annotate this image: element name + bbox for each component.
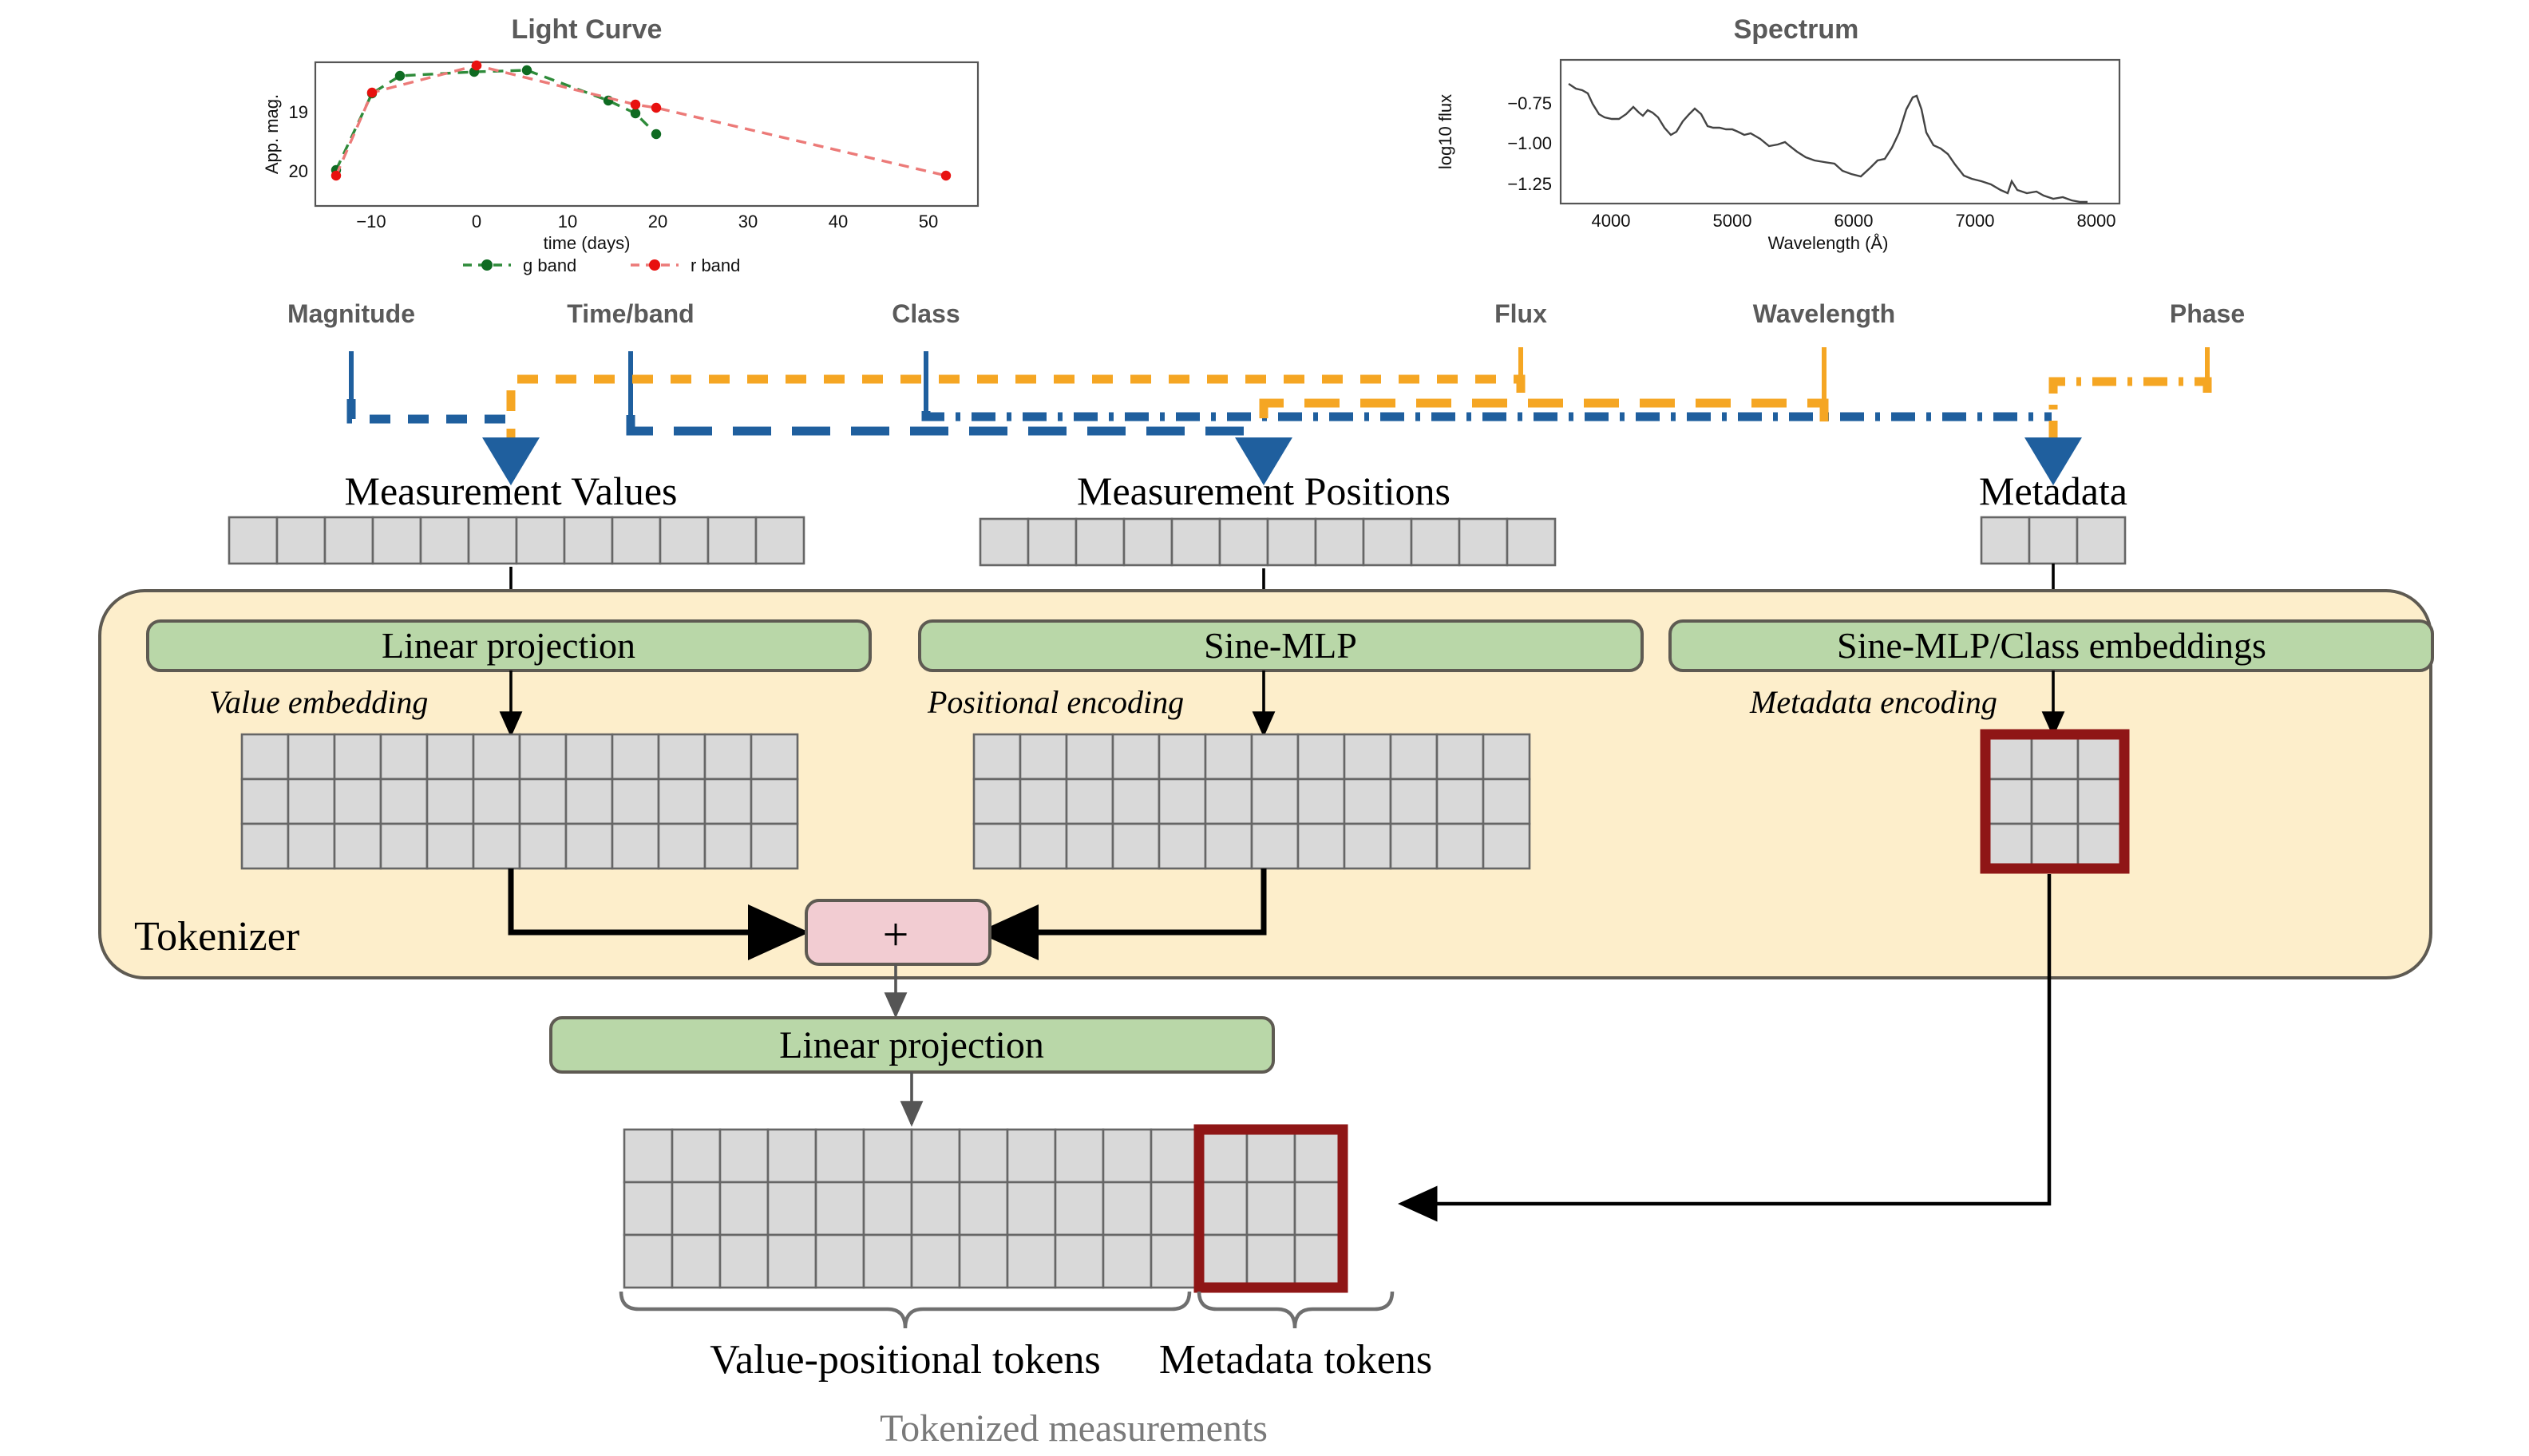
light-curve-xlabel: time (days): [544, 233, 631, 253]
positional-encoding-cell: [1113, 734, 1159, 779]
block-sine-mlp-positions[interactable]: Sine-MLP: [920, 621, 1642, 671]
token-value-positional-cell: [1151, 1130, 1199, 1182]
svg-text:4000: 4000: [1592, 211, 1631, 231]
measurement-positions-cell: [1028, 519, 1076, 565]
positional-encoding-cell: [1252, 779, 1298, 824]
value-embedding-cell: [751, 824, 797, 868]
svg-text:−0.75: −0.75: [1507, 93, 1552, 113]
token-value-positional-cell: [768, 1182, 816, 1235]
token-value-positional-cell: [912, 1182, 960, 1235]
measurement-positions-cell: [1124, 519, 1172, 565]
value-embedding-cell: [242, 734, 288, 779]
token-value-positional-cell: [1103, 1182, 1151, 1235]
title-metadata: Metadata: [1979, 469, 2127, 513]
positional-encoding-cell: [1159, 824, 1205, 868]
sum-symbol: +: [883, 908, 909, 960]
metadata-encoding-cell: [2078, 734, 2124, 779]
value-embedding-cell: [381, 824, 427, 868]
value-embedding-cell: [242, 779, 288, 824]
value-embedding-cell: [612, 824, 659, 868]
token-value-positional-cell: [768, 1235, 816, 1288]
svg-text:8000: 8000: [2077, 211, 2116, 231]
measurement-positions-strip: [980, 519, 1555, 565]
value-embedding-cell: [520, 824, 566, 868]
positional-encoding-cell: [974, 779, 1020, 824]
token-metadata-cell: [1199, 1182, 1247, 1235]
positional-encoding-cell: [1437, 734, 1483, 779]
caption-metadata-encoding: Metadata encoding: [1749, 684, 1997, 720]
positional-encoding-cell: [1020, 779, 1067, 824]
token-value-positional-cell: [1007, 1130, 1055, 1182]
metadata-encoding-cell: [2032, 734, 2078, 779]
spectrum-plot-frame: [1561, 60, 2119, 204]
light-curve-legend: g band r band: [463, 255, 740, 275]
token-metadata-cell: [1199, 1235, 1247, 1288]
light-curve-ytick-19: 19: [289, 102, 308, 122]
measurement-values-cell: [325, 517, 373, 564]
value-embedding-cell: [659, 824, 705, 868]
token-value-positional-cell: [816, 1130, 864, 1182]
legend-label-g: g band: [523, 255, 576, 275]
value-embedding-cell: [705, 734, 751, 779]
value-embedding-cell: [288, 734, 334, 779]
positional-encoding-cell: [1483, 734, 1530, 779]
block-sine-mlp-class-embeddings[interactable]: Sine-MLP/Class embeddings: [1670, 621, 2432, 671]
route-magnitude-to-values: [351, 399, 509, 419]
token-value-positional-cell: [864, 1182, 912, 1235]
metadata-encoding-cell: [2032, 779, 2078, 824]
token-value-positional-cell: [1151, 1235, 1199, 1288]
value-embedding-cell: [334, 734, 381, 779]
token-value-positional-cell: [1055, 1130, 1103, 1182]
measurement-values-cell: [660, 517, 708, 564]
token-metadata-cell: [1295, 1130, 1343, 1182]
block-linear-projection-values[interactable]: Linear projection: [148, 621, 870, 671]
value-embedding-cell: [612, 734, 659, 779]
token-value-positional-cell: [672, 1182, 720, 1235]
label-metadata-tokens: Metadata tokens: [1159, 1337, 1432, 1383]
measurement-values-cell: [612, 517, 660, 564]
title-measurement-values: Measurement Values: [344, 469, 677, 513]
positional-encoding-cell: [1205, 779, 1252, 824]
token-value-positional-cell: [1103, 1235, 1151, 1288]
value-embedding-cell: [288, 779, 334, 824]
measurement-values-cell: [564, 517, 612, 564]
value-embedding-cell: [612, 779, 659, 824]
positional-encoding-cell: [1159, 734, 1205, 779]
route-class-to-metadata: [926, 411, 2052, 417]
token-metadata-cell: [1295, 1235, 1343, 1288]
brace-labels: Value-positional tokens Metadata tokens: [710, 1337, 1432, 1383]
metadata-cell: [1981, 517, 2029, 564]
token-value-positional-cell: [1103, 1130, 1151, 1182]
svg-text:10: 10: [558, 212, 577, 231]
value-embedding-cell: [659, 779, 705, 824]
measurement-positions-cell: [1507, 519, 1555, 565]
metadata-encoding-cell: [2078, 779, 2124, 824]
measurement-positions-cell: [1268, 519, 1316, 565]
token-value-positional-cell: [1007, 1182, 1055, 1235]
metadata-cell: [2077, 517, 2125, 564]
token-value-positional-cell: [864, 1130, 912, 1182]
measurement-values-cell: [708, 517, 756, 564]
svg-text:−10: −10: [356, 212, 386, 231]
token-metadata-cell: [1199, 1130, 1247, 1182]
positional-encoding-cell: [1298, 779, 1344, 824]
positional-encoding-cell: [1067, 734, 1113, 779]
measurement-values-cell: [373, 517, 421, 564]
positional-encoding-cell: [1298, 824, 1344, 868]
braces: [621, 1292, 1392, 1328]
brace-value-positional: [621, 1292, 1189, 1328]
spectrum-yticks: −0.75 −1.00 −1.25: [1507, 93, 1552, 194]
token-value-positional-cell: [624, 1130, 672, 1182]
value-embedding-cell: [334, 779, 381, 824]
value-embedding-cell: [427, 734, 473, 779]
svg-text:7000: 7000: [1956, 211, 1995, 231]
value-embedding-cell: [751, 779, 797, 824]
light-curve-xticks: −10 0 10 20 30 40 50: [356, 212, 938, 231]
route-wavelength-to-positions: [1264, 403, 1824, 447]
value-embedding-cell: [242, 824, 288, 868]
sum-node[interactable]: +: [806, 900, 990, 964]
measurement-values-cell: [756, 517, 804, 564]
token-value-positional-cell: [720, 1235, 768, 1288]
positional-encoding-cell: [1067, 779, 1113, 824]
metadata-encoding-cell: [1985, 779, 2032, 824]
block-linear-projection-final[interactable]: Linear projection: [551, 1018, 1273, 1072]
light-curve-plot-frame: [315, 62, 978, 206]
spectrum-ylabel: log10 flux: [1435, 94, 1455, 169]
positional-encoding-cell: [1020, 824, 1067, 868]
svg-text:30: 30: [738, 212, 758, 231]
block-sine-mlp-positions-label: Sine-MLP: [1204, 625, 1357, 666]
spectrum-xlabel: Wavelength (Å): [1768, 233, 1889, 253]
value-embedding-cell: [473, 734, 520, 779]
positional-encoding-cell: [1252, 824, 1298, 868]
token-value-positional-cell: [1151, 1182, 1199, 1235]
token-value-positional-cell: [912, 1130, 960, 1182]
value-embedding-cell: [705, 824, 751, 868]
token-metadata-cell: [1247, 1235, 1295, 1288]
value-embedding-cell: [473, 824, 520, 868]
measurement-positions-cell: [1411, 519, 1459, 565]
token-value-positional-cell: [1007, 1235, 1055, 1288]
measurement-values-cell: [229, 517, 277, 564]
token-value-positional-cell: [1055, 1235, 1103, 1288]
metadata-encoding-cell: [1985, 734, 2032, 779]
token-metadata-cell: [1295, 1182, 1343, 1235]
svg-text:40: 40: [829, 212, 848, 231]
value-embedding-cell: [520, 734, 566, 779]
positional-encoding-grid: [974, 734, 1530, 868]
positional-encoding-cell: [1020, 734, 1067, 779]
positional-encoding-cell: [1483, 824, 1530, 868]
tokenized-measurements-grid: [624, 1130, 1343, 1288]
diagram-canvas: Light Curve App. mag. 19 20 −10 0 10 20 …: [0, 0, 2529, 1456]
measurement-positions-cell: [1363, 519, 1411, 565]
value-embedding-cell: [334, 824, 381, 868]
token-value-positional-cell: [720, 1182, 768, 1235]
tokenizer-label: Tokenizer: [134, 914, 299, 959]
label-value-positional-tokens: Value-positional tokens: [710, 1337, 1101, 1383]
title-measurement-positions: Measurement Positions: [1077, 469, 1451, 513]
positional-encoding-cell: [974, 734, 1020, 779]
measurement-values-cell: [516, 517, 564, 564]
measurement-values-cell: [469, 517, 516, 564]
token-value-positional-cell: [960, 1130, 1007, 1182]
svg-text:20: 20: [648, 212, 667, 231]
token-value-positional-cell: [912, 1235, 960, 1288]
value-embedding-cell: [427, 824, 473, 868]
legend-label-r: r band: [691, 255, 740, 275]
field-label-phase: Phase: [2170, 299, 2245, 328]
token-value-positional-cell: [624, 1182, 672, 1235]
svg-text:6000: 6000: [1834, 211, 1874, 231]
value-embedding-grid: [242, 734, 797, 868]
token-value-positional-cell: [816, 1182, 864, 1235]
metadata-encoding-grid: [1985, 734, 2124, 868]
svg-text:−1.25: −1.25: [1507, 174, 1552, 194]
svg-text:−1.00: −1.00: [1507, 133, 1552, 153]
value-embedding-cell: [381, 734, 427, 779]
positional-encoding-cell: [1344, 824, 1391, 868]
positional-encoding-cell: [1344, 779, 1391, 824]
measurement-positions-cell: [1220, 519, 1268, 565]
field-labels-row: Magnitude Time/band Class Flux Wavelengt…: [287, 299, 2245, 328]
measurement-positions-cell: [980, 519, 1028, 565]
token-value-positional-cell: [960, 1182, 1007, 1235]
positional-encoding-cell: [1113, 779, 1159, 824]
svg-text:5000: 5000: [1713, 211, 1752, 231]
field-label-magnitude: Magnitude: [287, 299, 415, 328]
field-label-flux: Flux: [1494, 299, 1547, 328]
value-embedding-cell: [288, 824, 334, 868]
metadata-encoding-cell: [1985, 824, 2032, 868]
value-embedding-cell: [566, 779, 612, 824]
token-value-positional-cell: [960, 1235, 1007, 1288]
token-value-positional-cell: [816, 1235, 864, 1288]
token-value-positional-cell: [720, 1130, 768, 1182]
value-embedding-cell: [659, 734, 705, 779]
value-embedding-cell: [427, 779, 473, 824]
token-metadata-cell: [1247, 1182, 1295, 1235]
field-label-time-band: Time/band: [567, 299, 694, 328]
field-label-wavelength: Wavelength: [1753, 299, 1895, 328]
field-label-class: Class: [892, 299, 960, 328]
svg-text:0: 0: [472, 212, 481, 231]
measurement-values-strip: [229, 517, 804, 564]
routing-connectors: [351, 347, 2207, 485]
measurement-positions-cell: [1076, 519, 1124, 565]
metadata-cell: [2029, 517, 2077, 564]
positional-encoding-cell: [1067, 824, 1113, 868]
positional-encoding-cell: [1437, 824, 1483, 868]
block-linear-projection-values-label: Linear projection: [382, 625, 635, 666]
token-value-positional-cell: [1055, 1182, 1103, 1235]
route-phase-to-metadata: [2053, 382, 2207, 447]
positional-encoding-cell: [1252, 734, 1298, 779]
light-curve-ytick-20: 20: [289, 161, 308, 181]
metadata-encoding-cell: [2078, 824, 2124, 868]
token-metadata-cell: [1247, 1130, 1295, 1182]
measurement-values-cell: [277, 517, 325, 564]
value-embedding-cell: [751, 734, 797, 779]
value-embedding-cell: [381, 779, 427, 824]
token-value-positional-cell: [624, 1235, 672, 1288]
positional-encoding-cell: [1391, 779, 1437, 824]
caption-value-embedding: Value embedding: [209, 684, 428, 720]
positional-encoding-cell: [1298, 734, 1344, 779]
light-curve-chart: Light Curve App. mag. 19 20 −10 0 10 20 …: [262, 14, 978, 275]
value-embedding-cell: [520, 779, 566, 824]
token-value-positional-cell: [672, 1130, 720, 1182]
figure-caption: Tokenized measurements: [880, 1407, 1268, 1450]
token-value-positional-cell: [672, 1235, 720, 1288]
positional-encoding-cell: [1391, 734, 1437, 779]
svg-text:50: 50: [919, 212, 938, 231]
token-value-positional-cell: [864, 1235, 912, 1288]
route-flux-to-values: [511, 379, 1521, 447]
light-curve-ylabel: App. mag.: [262, 94, 282, 174]
value-embedding-cell: [566, 734, 612, 779]
block-sine-mlp-class-embeddings-label: Sine-MLP/Class embeddings: [1837, 625, 2266, 666]
positional-encoding-cell: [1344, 734, 1391, 779]
measurement-positions-cell: [1316, 519, 1363, 565]
positional-encoding-cell: [1159, 779, 1205, 824]
positional-encoding-cell: [1437, 779, 1483, 824]
spectrum-chart: Spectrum log10 flux −0.75 −1.00 −1.25 40…: [1435, 14, 2119, 253]
spectrum-title: Spectrum: [1734, 14, 1859, 45]
spectrum-xticks: 4000 5000 6000 7000 8000: [1592, 211, 2116, 231]
metadata-encoding-cell: [2032, 824, 2078, 868]
value-embedding-cell: [566, 824, 612, 868]
caption-positional-encoding: Positional encoding: [927, 684, 1184, 720]
positional-encoding-cell: [974, 824, 1020, 868]
positional-encoding-cell: [1205, 734, 1252, 779]
value-embedding-cell: [473, 779, 520, 824]
route-timeband-to-positions: [631, 415, 1263, 431]
positional-encoding-cell: [1113, 824, 1159, 868]
measurement-positions-cell: [1172, 519, 1220, 565]
positional-encoding-cell: [1391, 824, 1437, 868]
positional-encoding-cell: [1205, 824, 1252, 868]
metadata-strip: [1981, 517, 2125, 564]
stage-titles: Measurement Values Measurement Positions…: [344, 469, 2127, 513]
token-value-positional-cell: [768, 1130, 816, 1182]
field-tick-stems: [351, 347, 2207, 421]
measurement-values-cell: [421, 517, 469, 564]
brace-metadata: [1199, 1292, 1392, 1328]
block-linear-projection-final-label: Linear projection: [779, 1024, 1044, 1066]
measurement-positions-cell: [1459, 519, 1507, 565]
positional-encoding-cell: [1483, 779, 1530, 824]
light-curve-title: Light Curve: [512, 14, 663, 45]
value-embedding-cell: [705, 779, 751, 824]
